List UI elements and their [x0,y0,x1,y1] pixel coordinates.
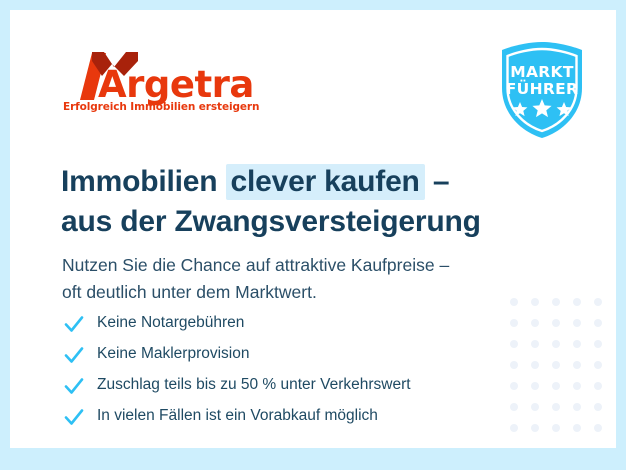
banner-card: Argetra Erfolgreich Immobilien ersteiger… [10,10,616,448]
headline-highlight: clever kaufen [226,164,425,200]
badge-line-markt: MARKT [494,63,590,81]
benefit-label: Keine Maklerprovision [97,345,250,364]
headline: Immobilien clever kaufen – aus der Zwang… [61,162,581,242]
headline-prefix: Immobilien [61,165,226,198]
star-icon [513,102,528,116]
dot [531,403,539,411]
dot [594,382,602,390]
logo-wordmark: Argetra [98,66,254,103]
dot [552,319,560,327]
logo-tagline: Erfolgreich Immobilien ersteigern [63,101,259,113]
dot [594,340,602,348]
promo-banner: Argetra Erfolgreich Immobilien ersteiger… [0,0,626,470]
headline-line-2: aus der Zwangsversteigerung [61,205,481,238]
star-icon [532,99,551,117]
dot [594,361,602,369]
headline-line-1: Immobilien clever kaufen – [61,164,449,200]
dot [531,424,539,432]
dot [573,424,581,432]
benefit-list: Keine Notargebühren Keine Maklerprovisio… [62,308,532,432]
dot [531,382,539,390]
star-icon [557,102,572,116]
headline-suffix: – [425,165,450,198]
benefit-label: Keine Notargebühren [97,314,244,333]
dot [552,361,560,369]
dot [594,298,602,306]
list-item: Keine Notargebühren [62,308,532,339]
dot [573,361,581,369]
dot [573,382,581,390]
dot [552,340,560,348]
dot [573,298,581,306]
list-item: Zuschlag teils bis zu 50 % unter Verkehr… [62,370,532,401]
subheadline-line-2: oft deutlich unter dem Marktwert. [62,282,317,302]
subheadline-line-1: Nutzen Sie die Chance auf attraktive Kau… [62,255,449,275]
list-item: Keine Maklerprovision [62,339,532,370]
badge-line-fuehrer: FÜHRER [494,80,590,98]
market-leader-badge: MARKT FÜHRER [494,40,590,140]
check-icon [62,374,86,398]
dot [531,340,539,348]
benefit-label: Zuschlag teils bis zu 50 % unter Verkehr… [97,376,411,395]
list-item: In vielen Fällen ist ein Vorabkauf mögli… [62,401,532,432]
dot [573,403,581,411]
check-icon [62,343,86,367]
dot [573,319,581,327]
dot [573,340,581,348]
dot [552,424,560,432]
dot [594,319,602,327]
dot [594,424,602,432]
dot [531,319,539,327]
subheadline: Nutzen Sie die Chance auf attraktive Kau… [62,252,562,307]
dot [552,403,560,411]
dot [594,403,602,411]
check-icon [62,312,86,336]
dot [552,382,560,390]
benefit-label: In vielen Fällen ist ein Vorabkauf mögli… [97,407,378,426]
dot [531,361,539,369]
argetra-logo[interactable]: Argetra Erfolgreich Immobilien ersteiger… [62,48,252,120]
badge-stars [494,98,590,120]
check-icon [62,405,86,429]
